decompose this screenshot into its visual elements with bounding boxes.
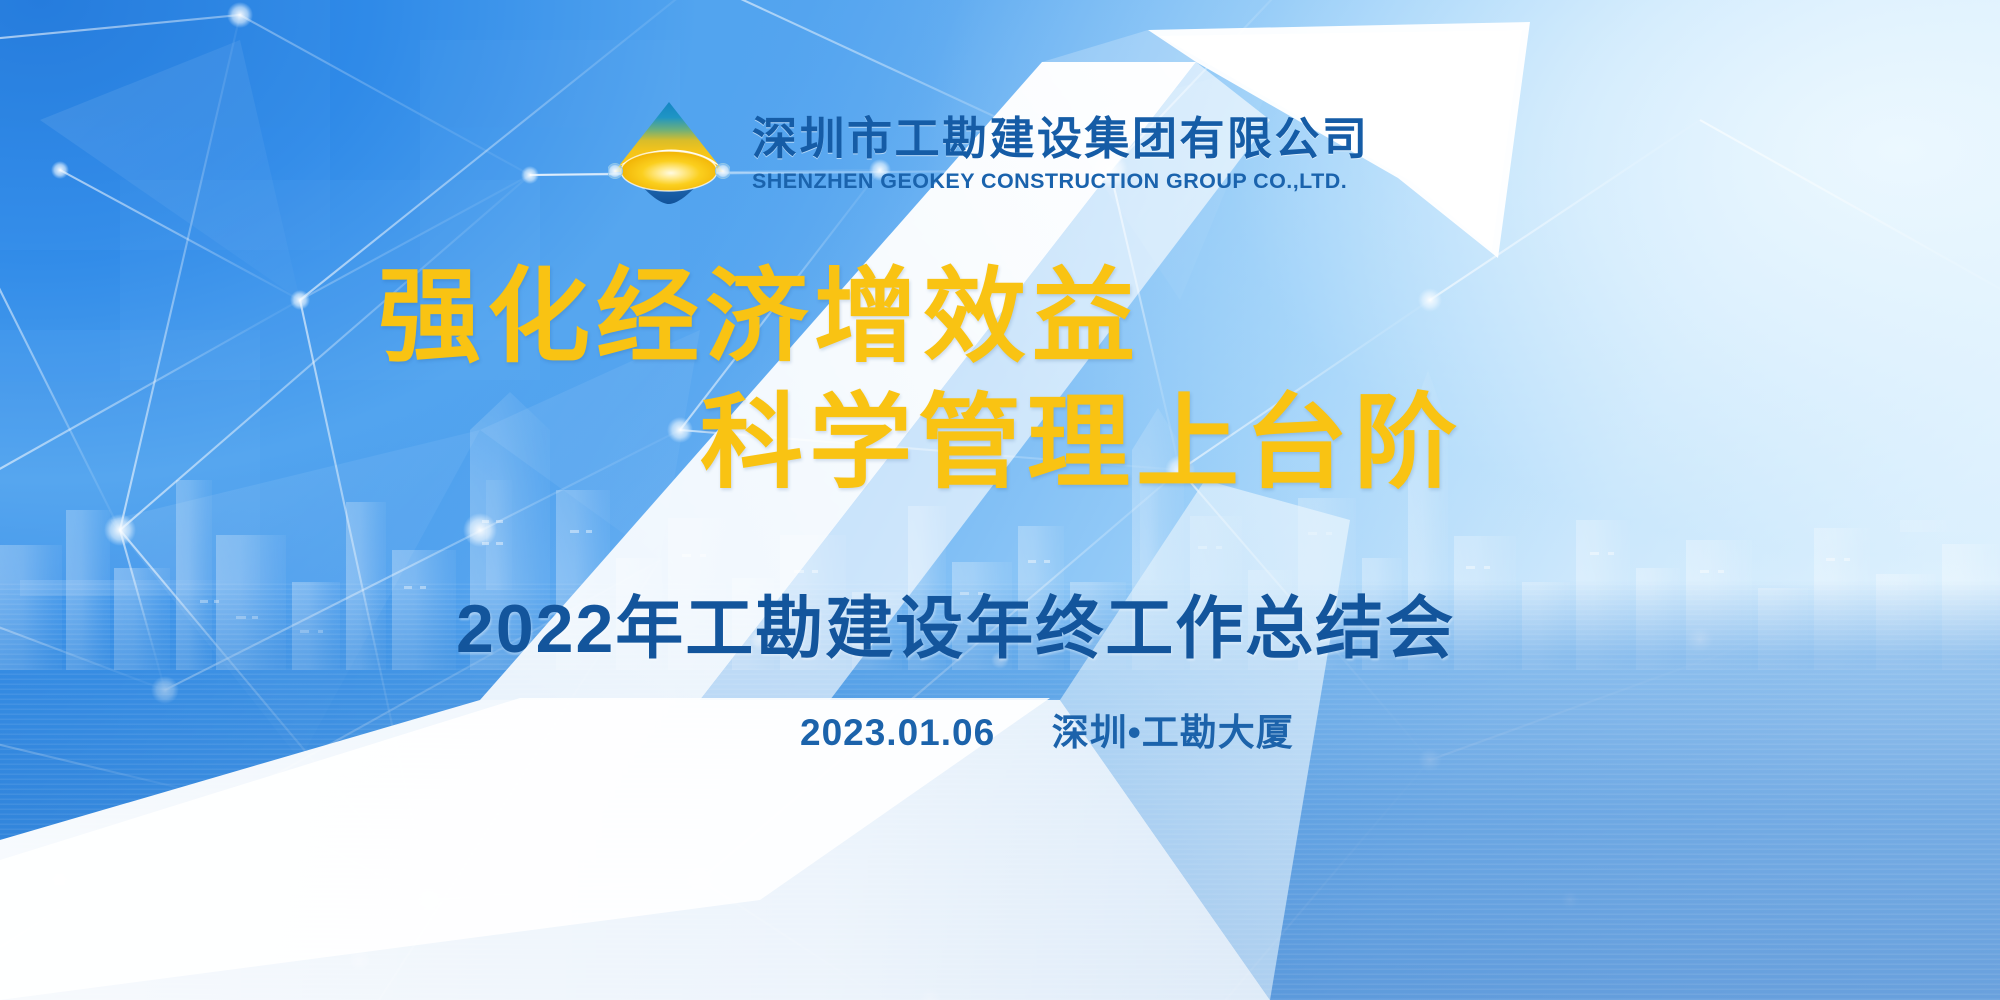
brand-name-cn: 深圳市工勘建设集团有限公司 [752,116,1370,162]
geokey-diamond-logo-icon [608,96,730,208]
event-subtitle: 2022年工勘建设年终工作总结会 [456,595,2000,663]
brand-lockup: 深圳市工勘建设集团有限公司 SHENZHEN GEOKEY CONSTRUCTI… [608,96,1370,208]
brand-name-block: 深圳市工勘建设集团有限公司 SHENZHEN GEOKEY CONSTRUCTI… [752,110,1370,194]
event-venue: 深圳•工勘大厦 [1052,712,1294,753]
headline-line-2: 科学管理上台阶 [700,388,2000,498]
headline-line-1: 强化经济增效益 [378,262,2000,372]
brand-name-en: SHENZHEN GEOKEY CONSTRUCTION GROUP CO.,L… [752,169,1370,194]
headline-block: 强化经济增效益 科学管理上台阶 [0,262,2000,498]
event-meta: 2023.01.06 深圳•工勘大厦 [800,702,2000,756]
poster-canvas: 深圳市工勘建设集团有限公司 SHENZHEN GEOKEY CONSTRUCTI… [0,0,2000,1000]
event-date: 2023.01.06 [800,712,995,753]
